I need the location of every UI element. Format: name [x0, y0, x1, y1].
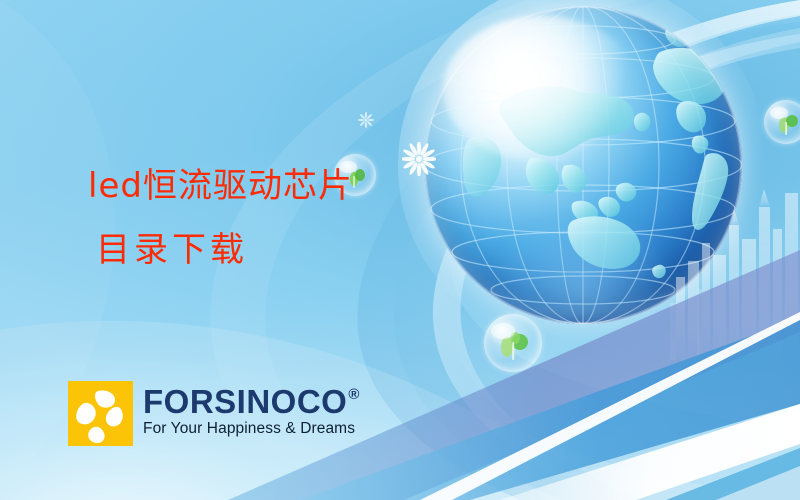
city-skyline-silhouette [670, 185, 800, 360]
logo-wordmark: FORSINOCO ® [143, 385, 360, 419]
brand-logo: FORSINOCO ® For Your Happiness & Dreams [68, 381, 360, 446]
headline-block: led恒流驱动芯片 目录下载 [88, 166, 428, 270]
bubble-sprout-center [484, 314, 542, 372]
logo-brand-name: FORSINOCO [143, 385, 347, 419]
slide-canvas: led恒流驱动芯片 目录下载 FORSINOCO ® For Your Happ… [0, 0, 800, 500]
bubble-sprout-right [764, 100, 800, 144]
logo-text-block: FORSINOCO ® For Your Happiness & Dreams [143, 381, 360, 438]
headline-line-1: led恒流驱动芯片 [88, 166, 428, 206]
daisy-small [358, 112, 374, 128]
logo-tagline: For Your Happiness & Dreams [143, 420, 360, 438]
headline-line-2: 目录下载 [96, 230, 428, 270]
forsinoco-pinwheel-icon [68, 381, 133, 446]
registered-trademark-icon: ® [348, 387, 360, 402]
